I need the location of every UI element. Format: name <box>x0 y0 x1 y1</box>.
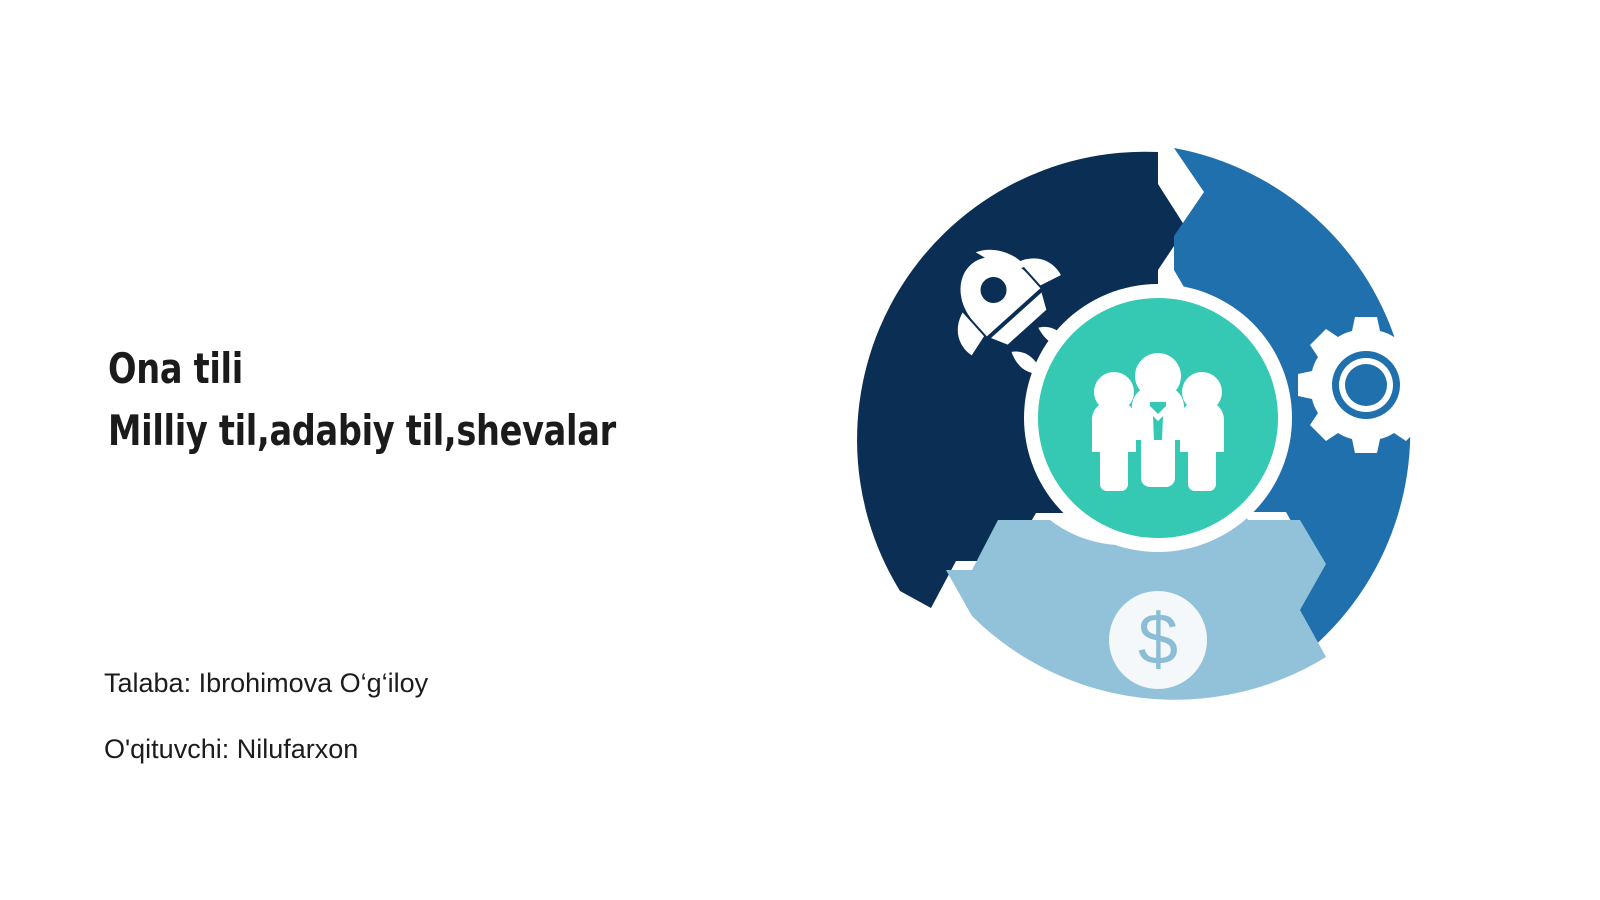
title-line-1: Ona tili <box>108 338 668 400</box>
cycle-diagram-svg: $ <box>856 118 1476 778</box>
teacher-name-line: O'qituvchi: Nilufarxon <box>104 716 804 782</box>
gear-icon <box>1298 317 1434 453</box>
slide-meta: Talaba: Ibrohimova O‘g‘iloy O'qituvchi: … <box>104 650 804 782</box>
title-line-2: Milliy til,adabiy til,shevalar <box>108 400 668 462</box>
text-column: Ona tili Milliy til,adabiy til,shevalar … <box>104 0 824 900</box>
dollar-coin-icon: $ <box>1109 591 1207 689</box>
people-group-icon <box>1092 353 1224 491</box>
cycle-diagram: $ <box>856 118 1476 778</box>
student-name-line: Talaba: Ibrohimova O‘g‘iloy <box>104 650 804 716</box>
svg-text:$: $ <box>1138 600 1178 680</box>
slide-title: Ona tili Milliy til,adabiy til,shevalar <box>108 338 808 462</box>
center-hub[interactable] <box>1024 284 1292 552</box>
slide-canvas: Ona tili Milliy til,adabiy til,shevalar … <box>0 0 1600 900</box>
